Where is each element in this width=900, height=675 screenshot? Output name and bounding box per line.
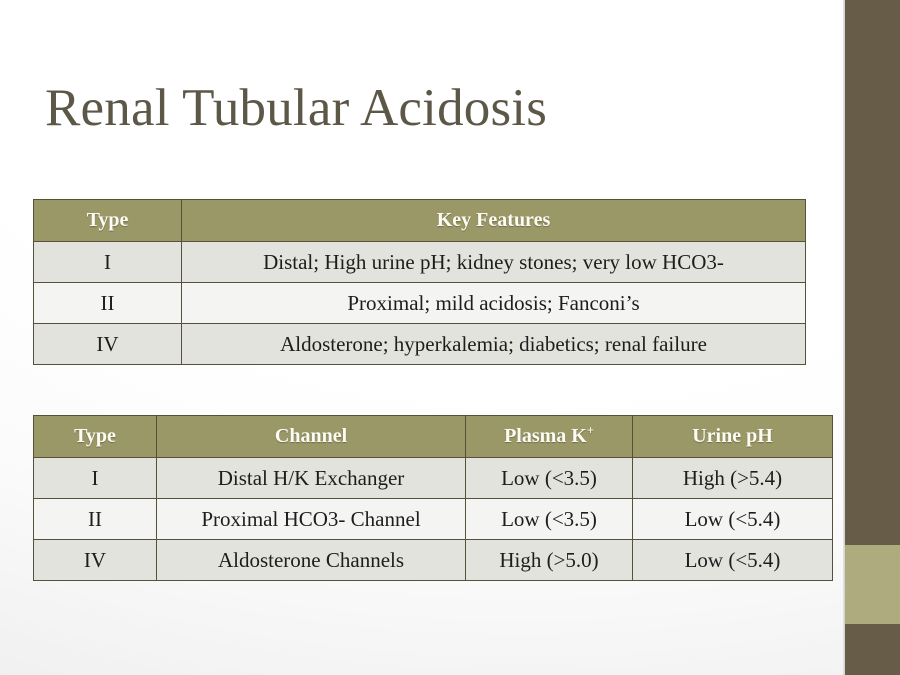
table-row: IV Aldosterone; hyperkalemia; diabetics;… — [34, 324, 806, 365]
cell-channel: Aldosterone Channels — [157, 540, 466, 581]
table-header-row: Type Key Features — [34, 200, 806, 242]
table-row: I Distal; High urine pH; kidney stones; … — [34, 242, 806, 283]
column-header-plasma-k: Plasma K+ — [466, 416, 633, 458]
column-header-key-features: Key Features — [182, 200, 806, 242]
cell-key-features: Distal; High urine pH; kidney stones; ve… — [182, 242, 806, 283]
cell-type: II — [34, 499, 157, 540]
table-key-features: Type Key Features I Distal; High urine p… — [33, 199, 806, 365]
cell-urine-ph: Low (<5.4) — [633, 540, 833, 581]
column-header-plasma-k-text: Plasma K — [504, 425, 587, 447]
column-header-urine-ph: Urine pH — [633, 416, 833, 458]
table-row: IV Aldosterone Channels High (>5.0) Low … — [34, 540, 833, 581]
page-title: Renal Tubular Acidosis — [45, 80, 547, 137]
cell-channel: Distal H/K Exchanger — [157, 458, 466, 499]
cell-plasma-k: Low (<3.5) — [466, 458, 633, 499]
cell-type: IV — [34, 540, 157, 581]
cell-type: IV — [34, 324, 182, 365]
cell-plasma-k: High (>5.0) — [466, 540, 633, 581]
cell-urine-ph: High (>5.4) — [633, 458, 833, 499]
cell-plasma-k: Low (<3.5) — [466, 499, 633, 540]
cell-key-features: Aldosterone; hyperkalemia; diabetics; re… — [182, 324, 806, 365]
column-header-type: Type — [34, 416, 157, 458]
cell-type: I — [34, 242, 182, 283]
right-sidebar-light-band — [845, 545, 900, 624]
column-header-channel: Channel — [157, 416, 466, 458]
cell-type: I — [34, 458, 157, 499]
cell-channel: Proximal HCO3- Channel — [157, 499, 466, 540]
table-channels: Type Channel Plasma K+ Urine pH I Distal… — [33, 415, 833, 581]
superscript-plus: + — [587, 423, 594, 437]
table-header-row: Type Channel Plasma K+ Urine pH — [34, 416, 833, 458]
slide-canvas: Renal Tubular Acidosis Type Key Features… — [0, 0, 900, 675]
column-header-type: Type — [34, 200, 182, 242]
table-row: II Proximal; mild acidosis; Fanconi’s — [34, 283, 806, 324]
cell-urine-ph: Low (<5.4) — [633, 499, 833, 540]
table-row: II Proximal HCO3- Channel Low (<3.5) Low… — [34, 499, 833, 540]
table-row: I Distal H/K Exchanger Low (<3.5) High (… — [34, 458, 833, 499]
cell-key-features: Proximal; mild acidosis; Fanconi’s — [182, 283, 806, 324]
cell-type: II — [34, 283, 182, 324]
